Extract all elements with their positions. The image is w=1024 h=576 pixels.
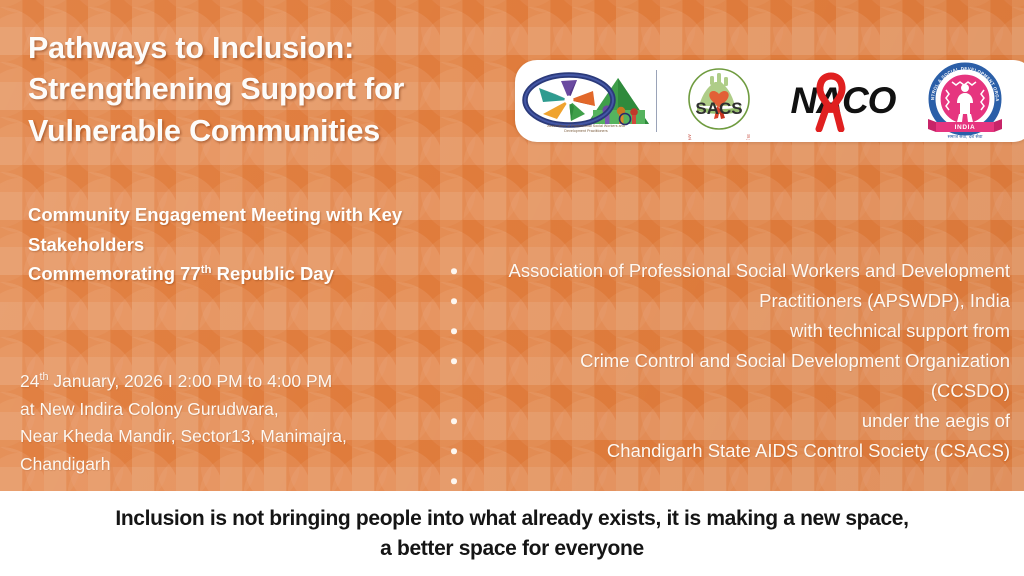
organiser-line: with technical support from: [790, 320, 1010, 342]
bullet-icon: [451, 358, 457, 364]
event-details: 24th January, 2026 I 2:00 PM to 4:00 PM …: [20, 368, 460, 479]
list-item: Practitioners (APSWDP), India: [448, 286, 1010, 316]
list-item: under the aegis of: [448, 406, 1010, 436]
naco-logo: NACO: [777, 69, 909, 133]
ccsdo-logo-cell: CRIME CONTROL & SOCIAL DEVELOPMENT ORGAN…: [913, 60, 1017, 142]
organiser-line: Association of Professional Social Worke…: [509, 260, 1010, 282]
venue-line-1: at New Indira Colony Gurudwara,: [20, 396, 460, 424]
ccsdo-logo-mark: CRIME CONTROL & SOCIAL DEVELOPMENT ORGAN…: [926, 62, 1004, 140]
subtitle-line-3: Commemorating 77th Republic Day: [28, 259, 498, 289]
bullet-icon: [451, 328, 457, 334]
organiser-line: Crime Control and Social Development Org…: [580, 350, 1010, 372]
republic-day-prefix: Commemorating 77: [28, 263, 201, 284]
bullet-icon: [451, 478, 457, 484]
apswdp-divider-rule: [656, 70, 657, 132]
subtitle-line-2: Stakeholders: [28, 230, 498, 260]
partner-logo-bar: Association of Professional Social Worke…: [515, 60, 1024, 142]
csacs-logo: SACS CHANDIGARH STATE AIDS CONTROL SOCIE…: [677, 62, 761, 140]
csacs-logo-cell: SACS CHANDIGARH STATE AIDS CONTROL SOCIE…: [665, 60, 773, 142]
list-item: Chandigarh State AIDS Control Society (C…: [448, 436, 1010, 466]
event-date-time: 24th January, 2026 I 2:00 PM to 4:00 PM: [20, 368, 460, 396]
event-poster: Pathways to Inclusion: Strengthening Sup…: [0, 0, 1024, 576]
poster-headline: Pathways to Inclusion: Strengthening Sup…: [28, 28, 498, 152]
apswdp-caption-line-2: Development Practitioners: [525, 129, 647, 134]
svg-text:समाज सेवा, देश सेवा: समाज सेवा, देश सेवा: [948, 133, 984, 139]
organiser-line: Practitioners (APSWDP), India: [759, 290, 1010, 312]
republic-day-suffix: Republic Day: [212, 263, 334, 284]
organiser-line: Chandigarh State AIDS Control Society (C…: [607, 440, 1010, 462]
bullet-icon: [451, 268, 457, 274]
aids-ribbon-icon: [808, 70, 854, 132]
venue-line-2: Near Kheda Mandir, Sector13, Manimajra,: [20, 423, 460, 451]
apswdp-caption: Association of Professional Social Worke…: [525, 124, 647, 134]
organiser-line: under the aegis of: [862, 410, 1010, 432]
list-item: with technical support from: [448, 316, 1010, 346]
event-date-rest: January, 2026 I 2:00 PM to 4:00 PM: [49, 371, 333, 391]
organiser-line: (CCSDO): [931, 380, 1010, 402]
subtitle-line-1: Community Engagement Meeting with Key: [28, 200, 498, 230]
event-day-ordinal: th: [39, 371, 48, 383]
list-item: Crime Control and Social Development Org…: [448, 346, 1010, 376]
naco-logo-cell: NACO: [773, 60, 913, 142]
list-item: (CCSDO): [448, 376, 1010, 406]
quote-line-1: Inclusion is not bringing people into wh…: [32, 504, 992, 534]
quote-line-2: a better space for everyone: [32, 534, 992, 564]
republic-day-ordinal: th: [201, 264, 212, 276]
event-subtitle: Community Engagement Meeting with Key St…: [28, 200, 498, 289]
list-item: Association of Professional Social Worke…: [448, 256, 1010, 286]
csacs-wordmark: SACS: [695, 99, 742, 118]
venue-line-3: Chandigarh: [20, 451, 460, 479]
csacs-logo-mark: SACS CHANDIGARH STATE AIDS CONTROL SOCIE…: [677, 62, 761, 140]
bullet-icon: [451, 418, 457, 424]
organiser-list: Association of Professional Social Worke…: [448, 256, 1010, 496]
ccsdo-logo: CRIME CONTROL & SOCIAL DEVELOPMENT ORGAN…: [926, 62, 1004, 140]
apswdp-logo-cell: Association of Professional Social Worke…: [515, 60, 665, 142]
footer-quote-bar: Inclusion is not bringing people into wh…: [0, 491, 1024, 576]
bullet-icon: [451, 448, 457, 454]
inclusion-quote: Inclusion is not bringing people into wh…: [32, 504, 992, 564]
apswdp-logo: Association of Professional Social Worke…: [521, 66, 659, 136]
bullet-icon: [451, 298, 457, 304]
ccsdo-banner-text: INDIA: [955, 124, 976, 131]
event-day-number: 24: [20, 371, 39, 391]
